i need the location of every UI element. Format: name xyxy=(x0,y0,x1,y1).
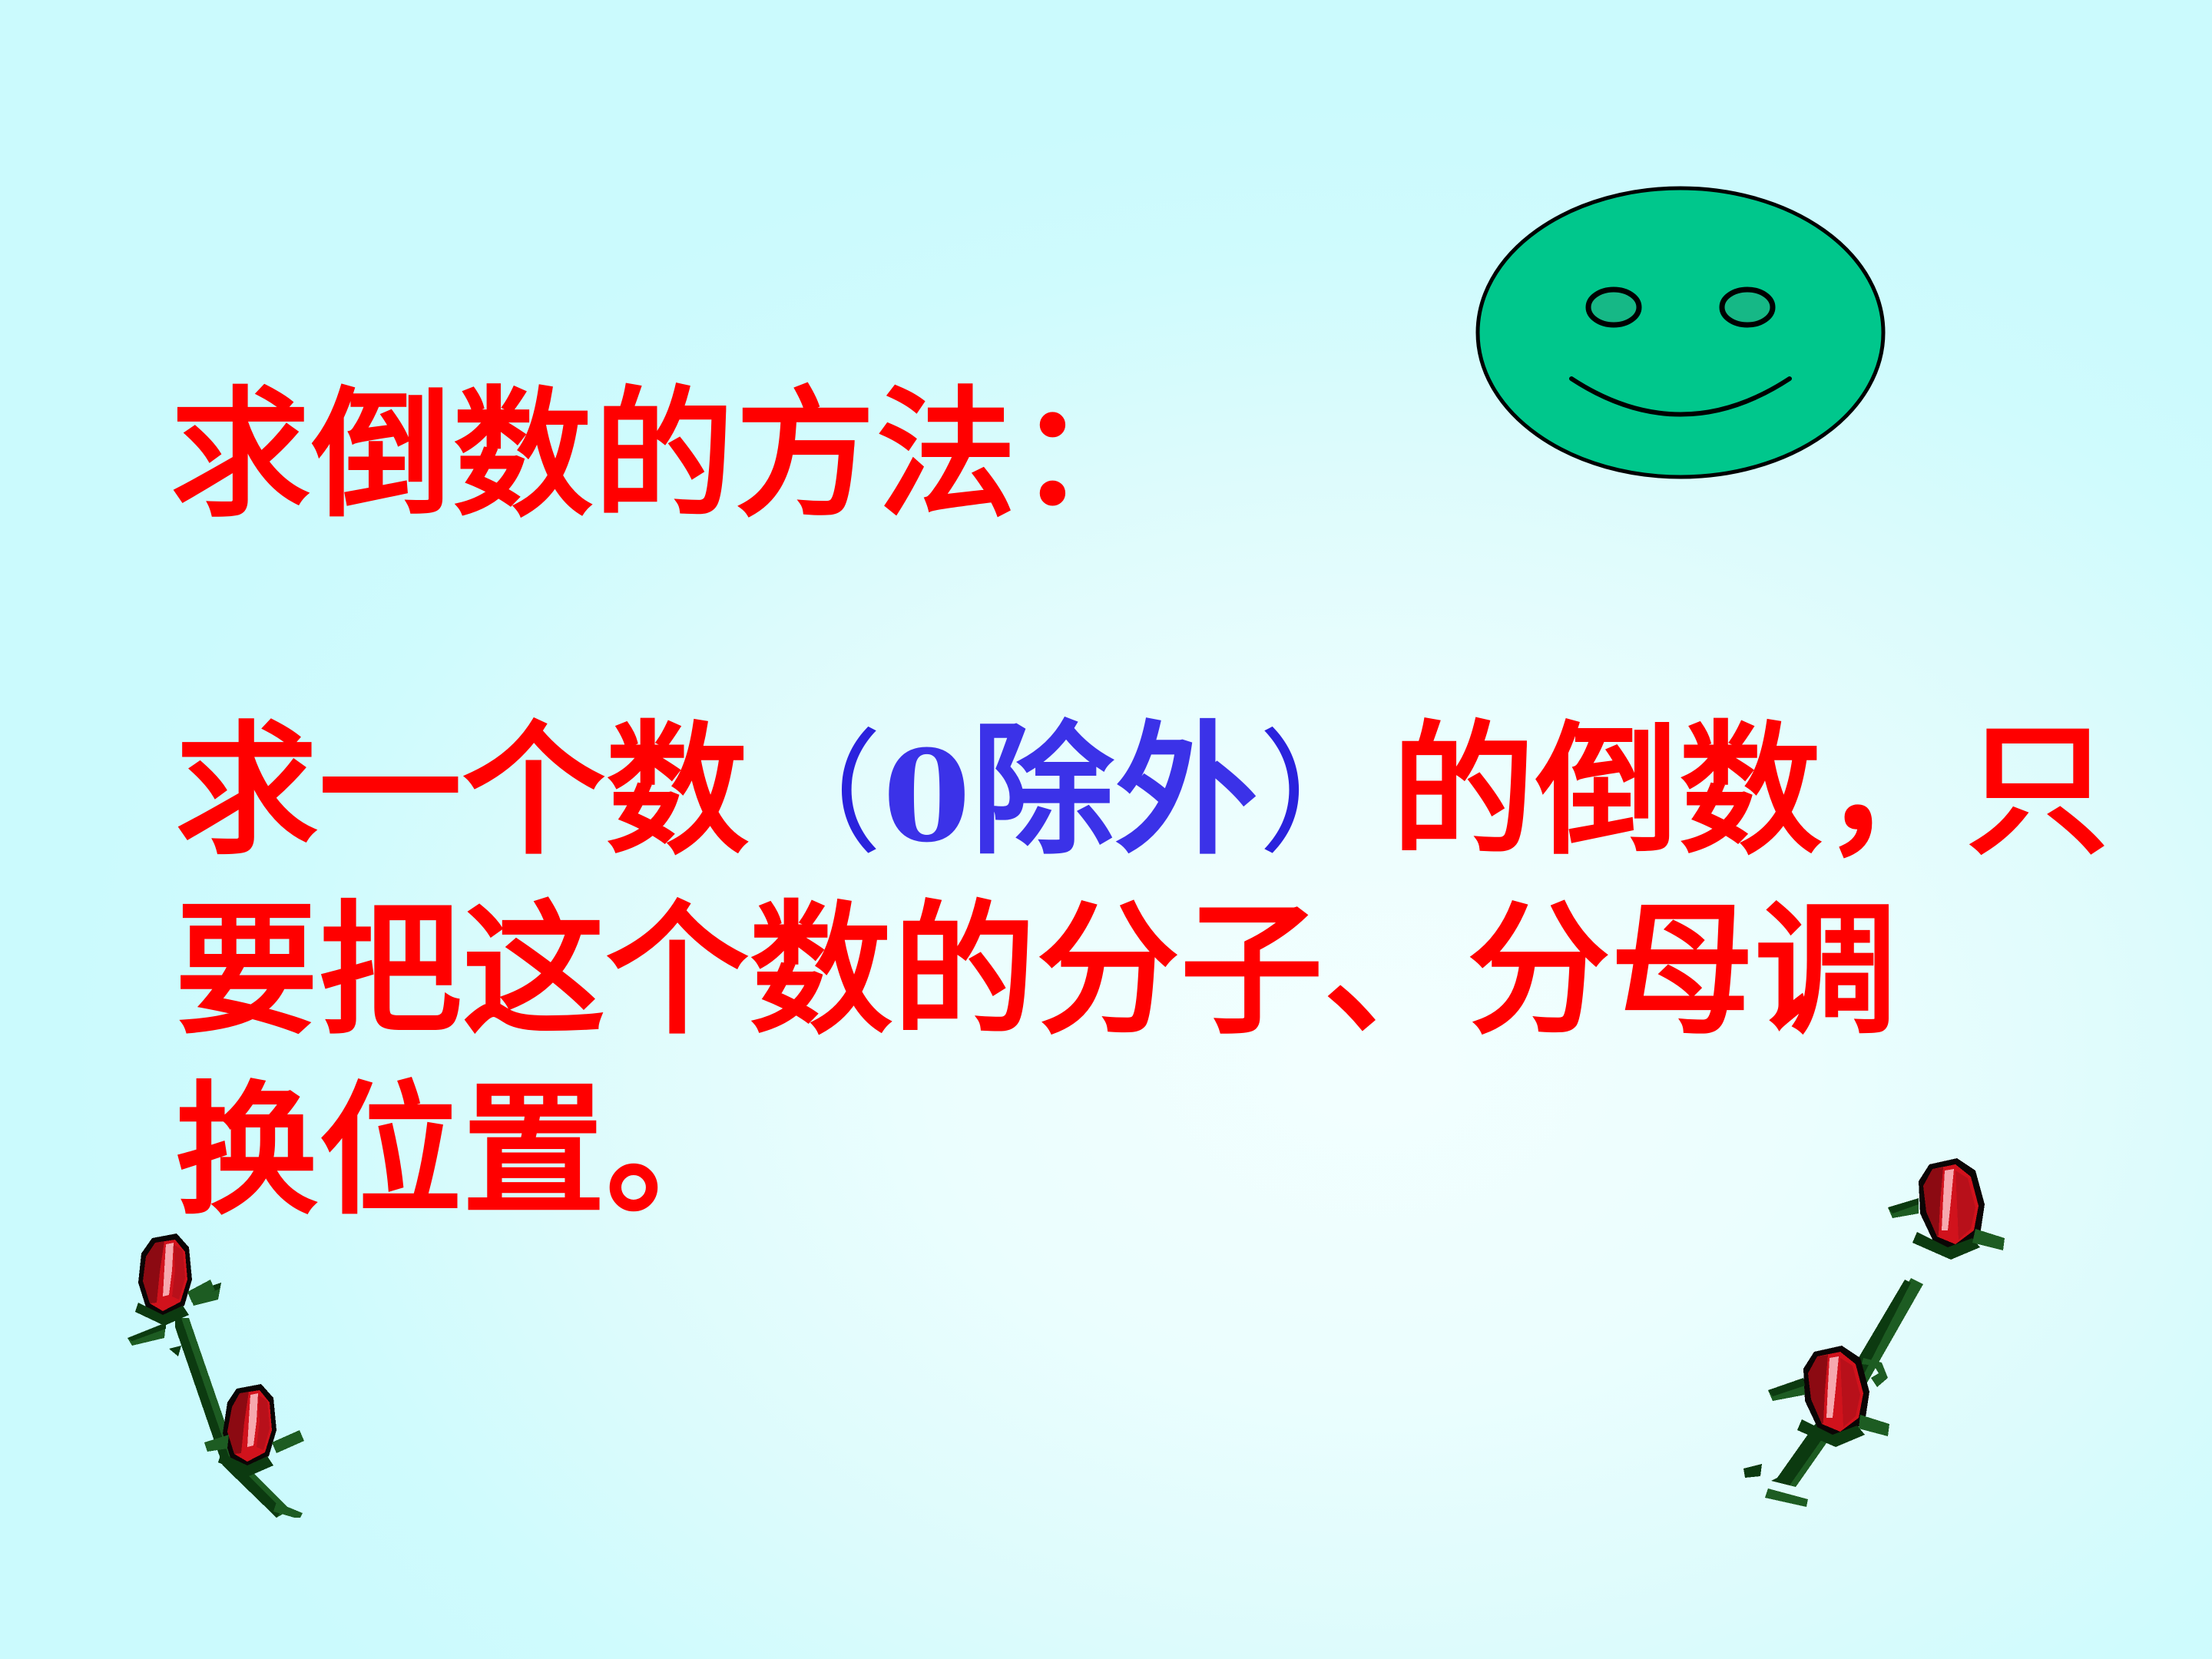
body-line-1: 求一个数（0除外）的倒数，只 xyxy=(175,700,2141,880)
smiley-left-eye-icon xyxy=(1588,290,1639,325)
body-line-1-blue-text: 除外 xyxy=(971,706,1258,874)
smiley-face-icon xyxy=(1473,183,1888,482)
body-line-1-red-prefix: 求一个数 xyxy=(175,706,750,874)
paren-open: （ xyxy=(750,717,883,872)
smiley-head-shape xyxy=(1478,188,1883,477)
rose-stem-left-icon xyxy=(98,1226,359,1518)
body-line-1-red-suffix: 的倒数，只 xyxy=(1392,706,2110,874)
zero-value: 0 xyxy=(883,722,972,870)
rose-stem-right-icon xyxy=(1717,1134,2017,1510)
body-line-2: 要把这个数的分子、分母调 xyxy=(175,880,2141,1060)
paren-close: ） xyxy=(1258,717,1392,872)
page-title: 求倒数的方法： xyxy=(171,384,1159,524)
slide-canvas: 求倒数的方法： 求一个数（0除外）的倒数，只 要把这个数的分子、分母调 换位置。 xyxy=(0,0,2212,1659)
smiley-right-eye-icon xyxy=(1722,290,1773,325)
